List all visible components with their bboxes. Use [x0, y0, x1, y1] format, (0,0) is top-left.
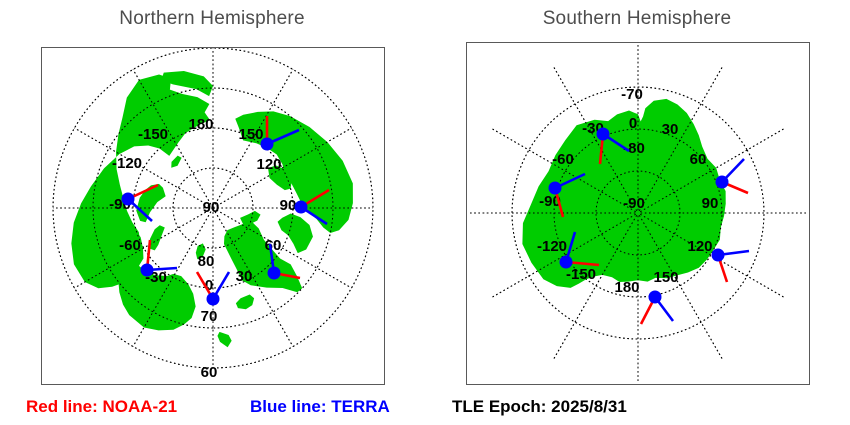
longitude-label: -60 [628, 43, 650, 45]
longitude-label: 30 [662, 121, 679, 138]
southern-hemisphere-panel: Southern Hemisphere -60030-3060-6090-901… [0, 0, 850, 425]
latitude-label: -70 [621, 86, 643, 103]
legend-terra: Blue line: TERRA [250, 397, 390, 417]
satellite-marker [712, 249, 725, 262]
southern-hemisphere-title: Southern Hemisphere [466, 8, 808, 30]
longitude-label: -60 [552, 151, 574, 168]
legend-noaa21: Red line: NOAA-21 [26, 397, 177, 417]
longitude-label: -120 [537, 238, 567, 255]
longitude-label: 90 [702, 195, 719, 212]
southern-polar-map: -60030-3060-6090-90120-120150-150180-70-… [467, 43, 809, 384]
satellite-marker [549, 182, 562, 195]
satellite-marker [597, 128, 610, 141]
satellite-marker [649, 291, 662, 304]
satellite-marker [560, 256, 573, 269]
legend-tle-epoch: TLE Epoch: 2025/8/31 [452, 397, 627, 417]
southern-hemisphere-plot[interactable]: -60030-3060-6090-90120-120150-150180-70-… [466, 42, 810, 385]
satellite-marker [716, 176, 729, 189]
longitude-label: -150 [566, 266, 596, 283]
satellite-track-page: Northern Hemisphere 180-150150-120120-90… [0, 0, 850, 425]
longitude-label: 180 [614, 279, 639, 296]
longitude-label: 150 [653, 269, 678, 286]
latitude-label: -90 [623, 195, 645, 212]
longitude-label: 60 [690, 151, 707, 168]
longitude-label: 0 [629, 115, 637, 132]
longitude-label: 120 [687, 238, 712, 255]
